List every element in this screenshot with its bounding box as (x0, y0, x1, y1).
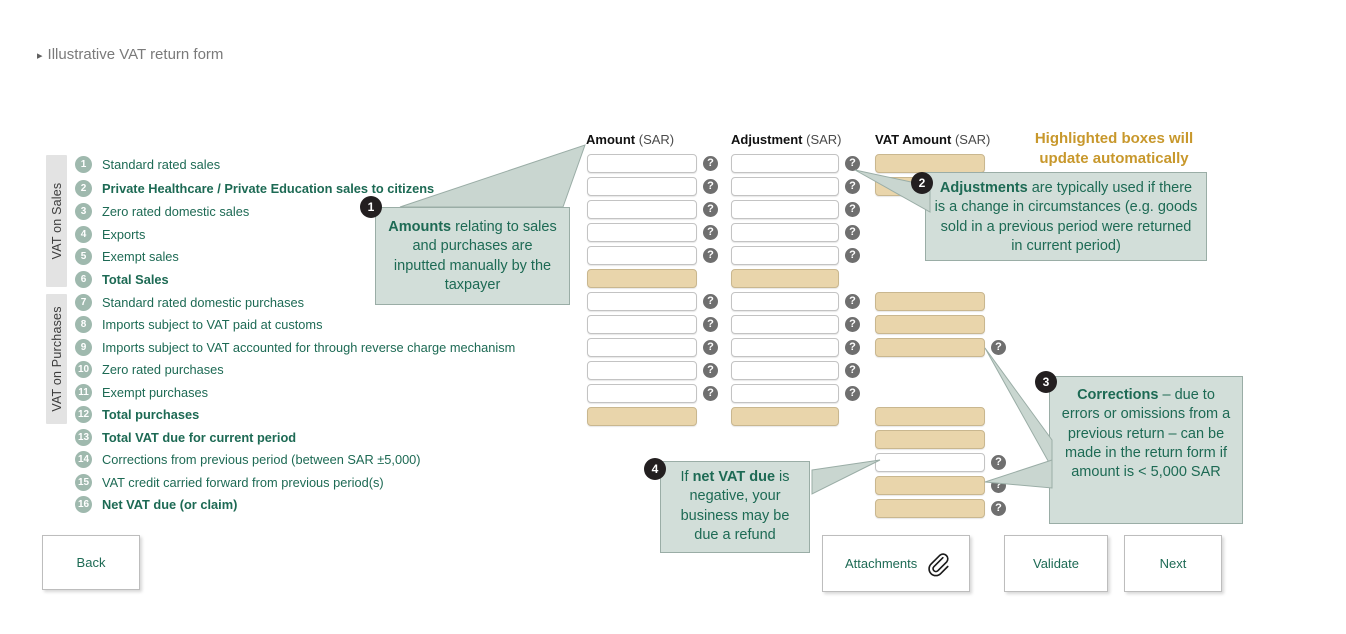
callout-2-badge: 2 (911, 172, 933, 194)
callout-3-badge: 3 (1035, 371, 1057, 393)
callout-1-badge: 1 (360, 196, 382, 218)
callout-4-badge: 4 (644, 458, 666, 480)
callout-pointers (0, 0, 1346, 634)
vat-return-form-slide: ▸Illustrative VAT return form VAT on Sal… (0, 0, 1346, 634)
